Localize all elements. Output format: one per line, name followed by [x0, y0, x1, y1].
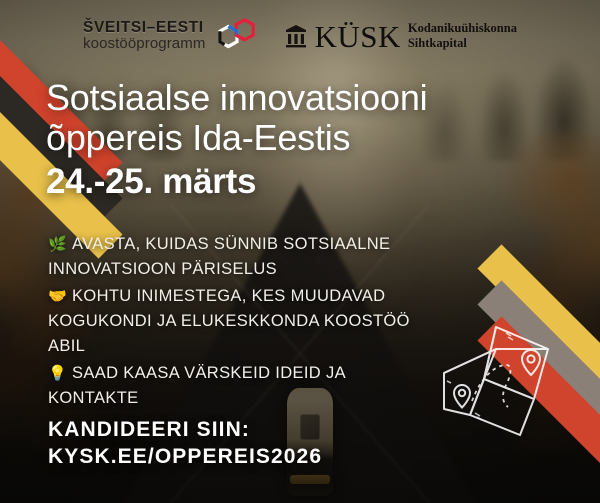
list-item: 🤝Kohtu inimestega, kes muudavad kogukond… [48, 284, 440, 359]
kysk-subtitle-line2: Sihtkapital [408, 36, 517, 51]
swiss-estonian-logo: ŠVEITSI–EESTI koostööprogramm [83, 16, 259, 56]
logo-bar: ŠVEITSI–EESTI koostööprogramm [0, 12, 600, 60]
kysk-subtitle-line1: Kodanikuühiskonna [408, 21, 517, 36]
kysk-subtitle: Kodanikuühiskonna Sihtkapital [408, 21, 517, 52]
call-to-action[interactable]: Kandideeri siin: kysk.ee/oppereis2026 [48, 416, 322, 471]
cta-label: Kandideeri siin: [48, 416, 322, 443]
swiss-estonian-line1: ŠVEITSI–EESTI [83, 20, 205, 36]
kysk-logo: KÜSK Kodanikuühiskonna Sihtkapital [285, 21, 517, 52]
lightbulb-icon: 💡 [48, 365, 67, 382]
interlocking-hexagons-emblem [215, 16, 259, 56]
kysk-wordmark: KÜSK [314, 21, 400, 52]
list-item-text: Kohtu inimestega, kes muudavad kogukondi… [48, 287, 410, 355]
list-item: 💡Saad kaasa värskeid ideid ja kontakte [48, 361, 440, 411]
benefits-list: 🌿Avasta, kuidas sünnib sotsiaalne innova… [48, 232, 440, 414]
swiss-estonian-wordmark: ŠVEITSI–EESTI koostööprogramm [83, 20, 205, 51]
list-item: 🌿Avasta, kuidas sünnib sotsiaalne innova… [48, 232, 440, 282]
swiss-estonian-line2: koostööprogramm [83, 36, 205, 51]
headline-line-2: õppereis Ida-Eestis [46, 118, 552, 158]
cta-url[interactable]: kysk.ee/oppereis2026 [48, 443, 322, 470]
herb-icon: 🌿 [48, 236, 67, 253]
promotional-poster: ŠVEITSI–EESTI koostööprogramm [0, 0, 600, 503]
classical-building-icon [285, 24, 307, 48]
headline-line-1: Sotsiaalse innovatsiooni [46, 78, 552, 118]
list-item-text: Avasta, kuidas sünnib sotsiaalne innovat… [48, 235, 390, 278]
event-date: 24.-25. märts [46, 162, 256, 202]
list-item-text: Saad kaasa värskeid ideid ja kontakte [48, 364, 345, 407]
handshake-icon: 🤝 [48, 288, 67, 305]
headline: Sotsiaalse innovatsiooni õppereis Ida-Ee… [46, 78, 552, 159]
